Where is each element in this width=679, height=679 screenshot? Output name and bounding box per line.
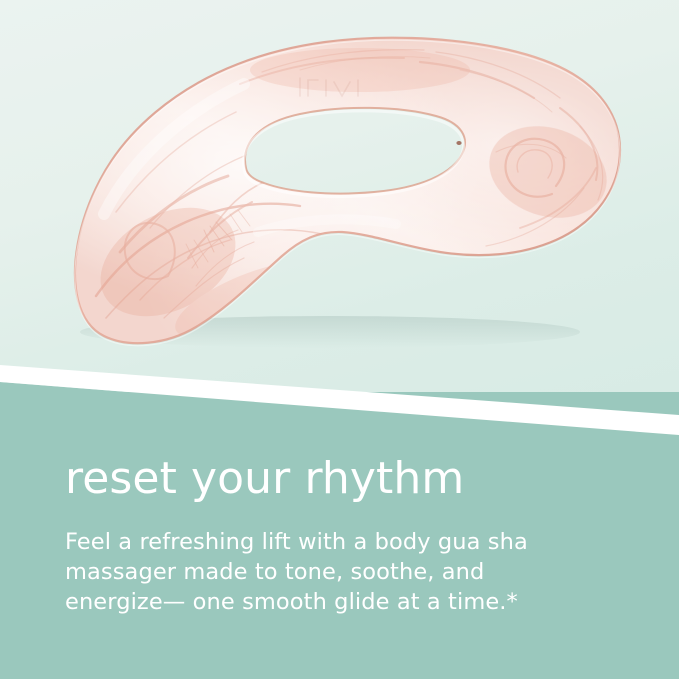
copy-block: reset your rhythm Feel a refreshing lift…	[65, 455, 625, 617]
body-copy: Feel a refreshing lift with a body gua s…	[65, 527, 570, 617]
product-marketing-card: reset your rhythm Feel a refreshing lift…	[0, 0, 679, 679]
product-stage	[0, 0, 679, 392]
body-copy-line-1: Feel a refreshing lift with a body gua s…	[65, 529, 528, 555]
body-copy-line-3: one smooth glide at a time.*	[193, 589, 518, 615]
gua-sha-product-image	[0, 0, 679, 392]
material-fleck	[456, 141, 461, 145]
hero-panel	[0, 0, 679, 392]
headline: reset your rhythm	[65, 455, 625, 503]
